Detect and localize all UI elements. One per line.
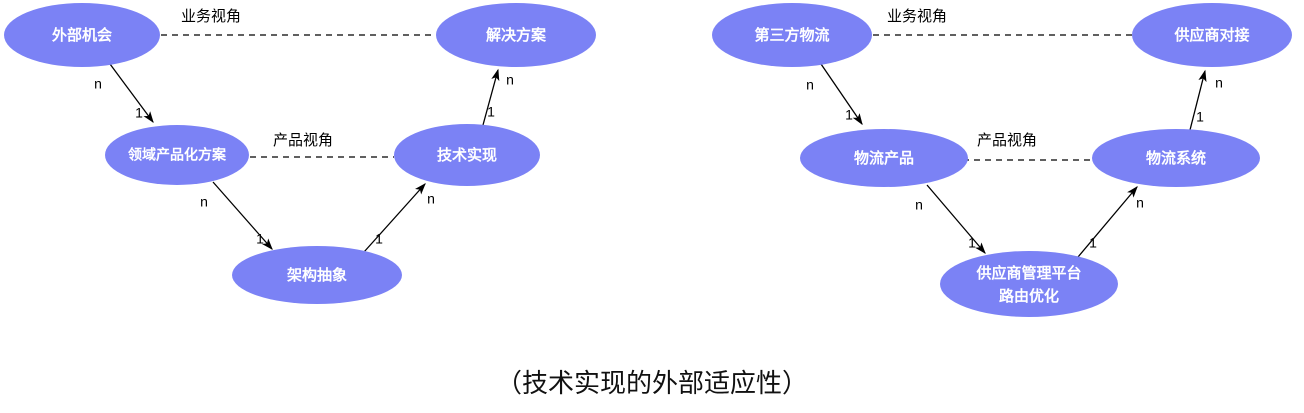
node-third-party-logistics[interactable]: 第三方物流 [712,3,872,67]
arrow-label-1-2: 1 [256,231,264,247]
diagram-caption: （技术实现的外部适应性） [496,368,808,398]
arrow-label-1-5: 1 [845,107,853,123]
arrow-logistics-product-to-supplier-platform [927,185,985,253]
node-domain-productization[interactable]: 领域产品化方案 [105,125,249,185]
node-label-supplier-platform-line1: 供应商管理平台 [975,264,1081,282]
arrow-label-n-7: n [1136,195,1144,211]
node-label-supplier-platform-line2: 路由优化 [999,287,1059,305]
right-diagram-group: 业务视角 产品视角 n 1 n 1 1 n 1 n 第三方物流 [712,3,1292,317]
arrow-label-n-4: n [506,72,514,88]
arrow-label-1-7: 1 [1089,235,1097,251]
arrow-third-party-logistics-to-logistics-product [821,64,862,124]
left-diagram-group: 业务视角 产品视角 n 1 n 1 1 n 1 n 外部机会 [4,3,596,304]
node-logistics-system[interactable]: 物流系统 [1092,129,1260,187]
node-label-logistics-system: 物流系统 [1146,149,1206,167]
node-label-third-party-logistics: 第三方物流 [754,26,829,44]
node-supplier-platform[interactable]: 供应商管理平台 路由优化 [940,251,1118,317]
node-solution[interactable]: 解决方案 [436,3,596,67]
arrow-architecture-abstraction-to-technical-implementation [364,184,425,252]
arrow-label-n-8: n [1215,75,1223,91]
node-supplier-integration[interactable]: 供应商对接 [1132,3,1292,67]
arrow-label-1-3: 1 [375,231,383,247]
diagram-canvas: 业务视角 产品视角 n 1 n 1 1 n 1 n 外部机会 [0,0,1304,413]
arrow-label-n-6: n [915,197,923,213]
arrow-label-1-6: 1 [968,235,976,251]
edge-label-product-view-right: 产品视角 [977,132,1037,149]
node-label-logistics-product: 物流产品 [854,149,914,167]
arrow-label-n-3: n [427,191,435,207]
node-label-technical-implementation: 技术实现 [437,146,497,164]
node-logistics-product[interactable]: 物流产品 [800,129,968,187]
arrow-label-n-1: n [94,76,102,92]
arrow-label-1-1: 1 [135,105,143,121]
node-ellipse-shape [940,251,1118,317]
node-technical-implementation[interactable]: 技术实现 [394,124,540,186]
arrow-external-opportunity-to-domain-productization [110,64,153,122]
node-architecture-abstraction[interactable]: 架构抽象 [232,246,402,304]
arrow-label-n-2: n [200,194,208,210]
architecture-diagram-svg: 业务视角 产品视角 n 1 n 1 1 n 1 n 外部机会 [0,0,1304,413]
arrow-supplier-platform-to-logistics-system [1078,187,1137,257]
edge-label-product-view: 产品视角 [273,132,333,149]
node-label-supplier-integration: 供应商对接 [1173,26,1249,44]
node-label-domain-productization: 领域产品化方案 [128,147,227,163]
node-label-external-opportunity: 外部机会 [51,26,112,44]
node-label-solution: 解决方案 [486,26,547,44]
edge-label-business-view: 业务视角 [181,8,241,25]
node-external-opportunity[interactable]: 外部机会 [4,3,160,67]
arrow-label-1-4: 1 [487,104,495,120]
node-label-architecture-abstraction: 架构抽象 [286,266,347,284]
edge-label-business-view-right: 业务视角 [887,8,947,25]
arrow-label-n-5: n [806,77,814,93]
arrow-label-1-8: 1 [1196,109,1204,125]
